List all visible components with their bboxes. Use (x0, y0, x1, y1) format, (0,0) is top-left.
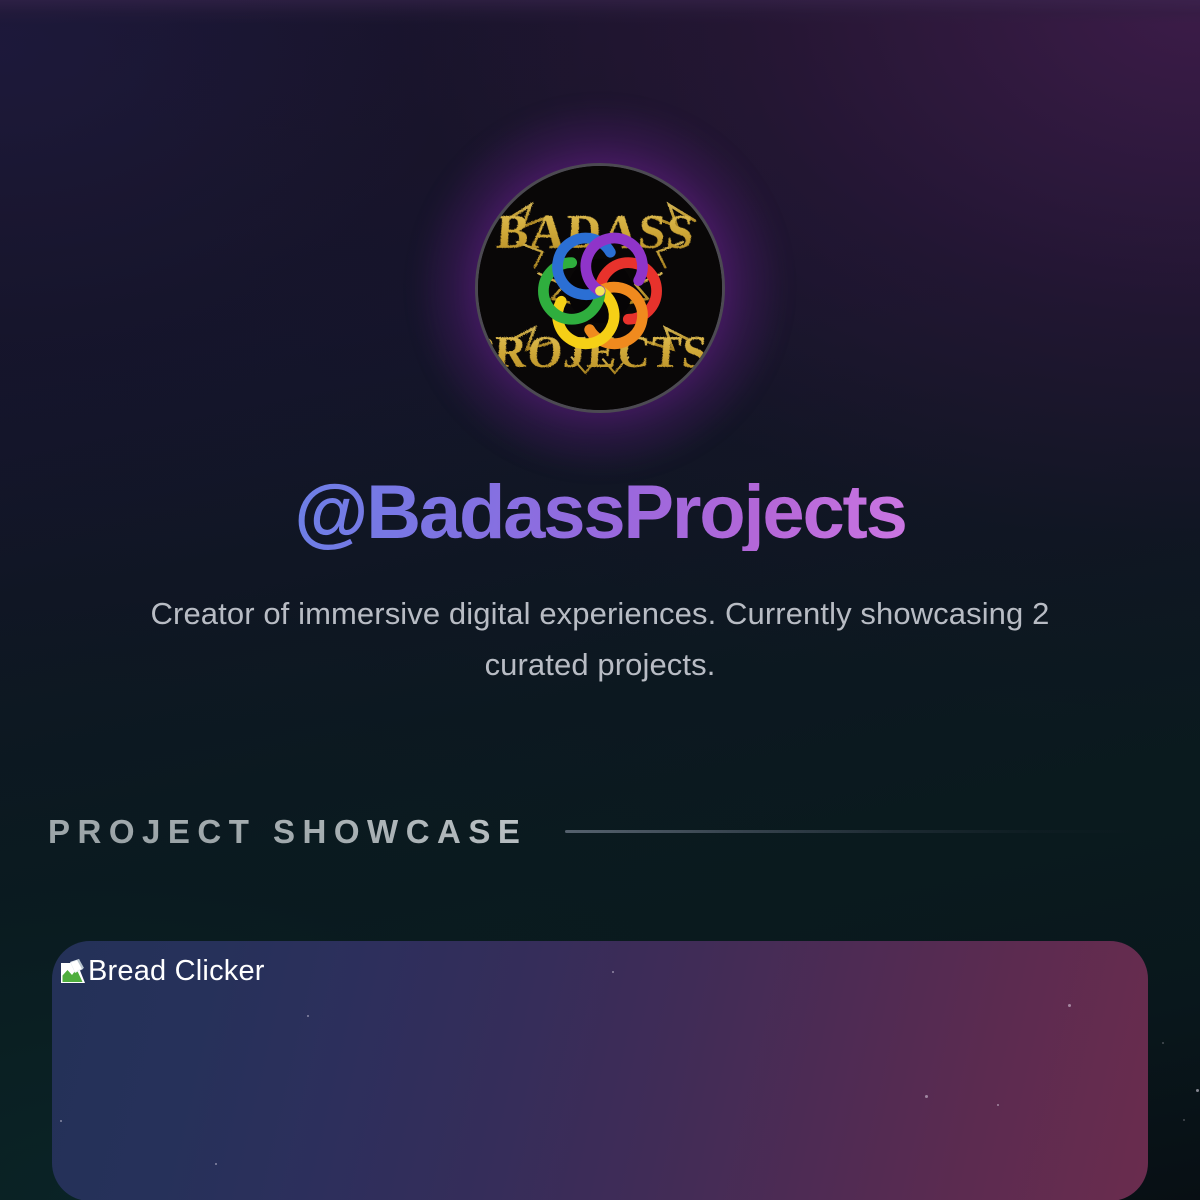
section-header: PROJECT SHOWCASE (48, 813, 1148, 851)
avatar[interactable]: BADASS PROJECTS (475, 163, 725, 413)
broken-image-icon (58, 957, 88, 987)
project-thumbnail[interactable]: Bread Clicker (58, 957, 265, 987)
star-dot (60, 1120, 62, 1122)
star-dot (612, 971, 614, 973)
profile-tagline: Creator of immersive digital experiences… (145, 589, 1055, 691)
avatar-image[interactable]: BADASS PROJECTS (475, 163, 725, 413)
project-showcase: Bread Clicker (0, 941, 1200, 1200)
project-alt-text: Bread Clicker (88, 957, 265, 986)
profile-page: BADASS PROJECTS (0, 0, 1200, 1200)
profile-header: BADASS PROJECTS (0, 0, 1200, 691)
project-card[interactable]: Bread Clicker (52, 941, 1148, 1200)
star-dot (307, 1015, 309, 1017)
star-dot (1068, 1004, 1071, 1007)
page-title: @BadassProjects (0, 475, 1200, 551)
star-dot (925, 1095, 928, 1098)
star-dot (215, 1163, 217, 1165)
star-dot (997, 1104, 999, 1106)
section-divider (565, 830, 1148, 833)
section-title: PROJECT SHOWCASE (48, 813, 527, 851)
